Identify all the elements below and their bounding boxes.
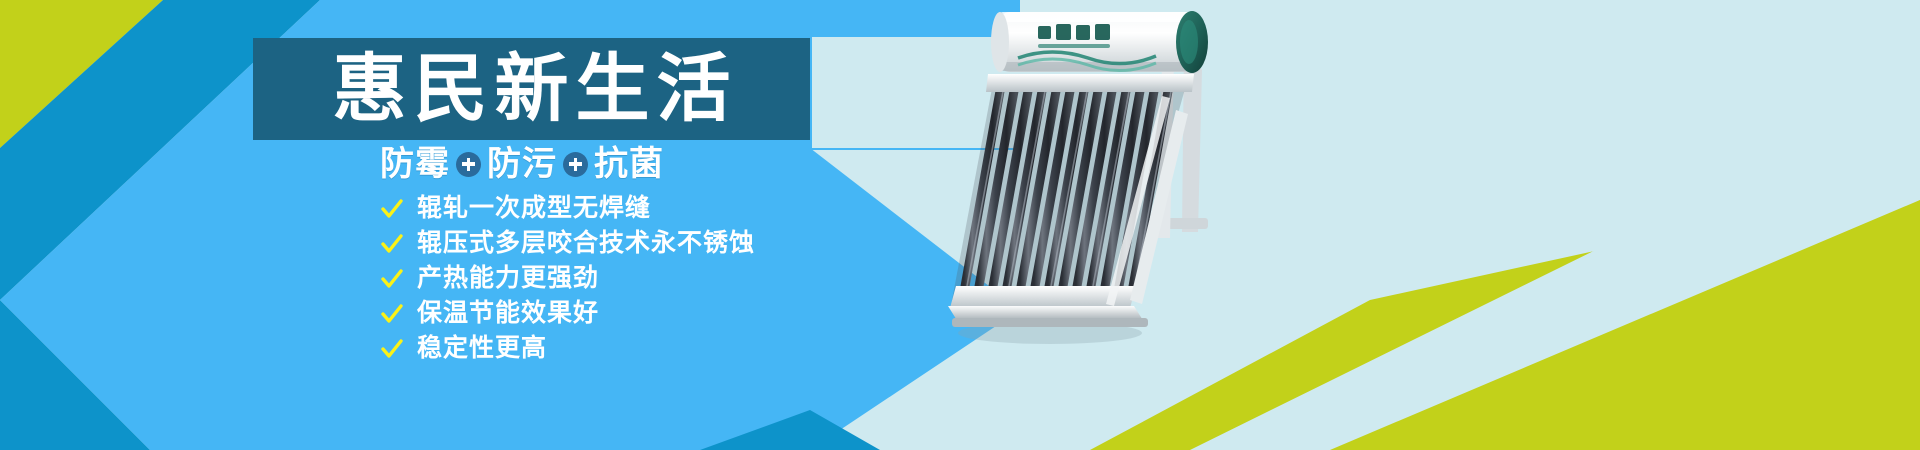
check-icon	[381, 338, 403, 360]
heater-upper-rail	[986, 74, 1194, 92]
list-item: 稳定性更高	[381, 331, 841, 366]
plus-icon	[563, 152, 588, 177]
page-title: 惠民新生活	[326, 52, 738, 126]
title-box: 惠民新生活	[253, 38, 810, 140]
product-image-solar-water-heater	[930, 0, 1270, 360]
check-icon	[381, 268, 403, 290]
list-item: 辊轧一次成型无焊缝	[381, 191, 841, 226]
subtitle-word-1: 防霉	[380, 147, 450, 181]
heater-tank	[991, 11, 1208, 73]
feature-label: 辊压式多层咬合技术永不锈蚀	[417, 231, 755, 256]
feature-label: 产热能力更强劲	[417, 266, 599, 291]
feature-list: 辊轧一次成型无焊缝 辊压式多层咬合技术永不锈蚀 产热能力更强劲 保温节能效果好	[381, 191, 841, 366]
check-icon	[381, 233, 403, 255]
list-item: 产热能力更强劲	[381, 261, 841, 296]
heater-base-bar	[952, 318, 1148, 327]
heater-tube-array	[952, 78, 1188, 300]
subtitle-word-2: 防污	[487, 147, 557, 181]
subtitle-word-3: 抗菌	[594, 147, 664, 181]
feature-label: 辊轧一次成型无焊缝	[417, 196, 651, 221]
check-icon	[381, 303, 403, 325]
feature-label: 保温节能效果好	[417, 301, 599, 326]
promo-banner: 惠民新生活 防霉 防污 抗菌 辊轧一次成型无焊缝 辊压式多层咬合技术永不锈蚀 产…	[0, 0, 1920, 450]
check-icon	[381, 198, 403, 220]
plus-icon	[456, 152, 481, 177]
subtitle-row: 防霉 防污 抗菌	[380, 143, 810, 185]
list-item: 辊压式多层咬合技术永不锈蚀	[381, 226, 841, 261]
list-item: 保温节能效果好	[381, 296, 841, 331]
heater-rear-foot	[1168, 218, 1208, 229]
feature-label: 稳定性更高	[417, 336, 547, 361]
solar-heater-illustration	[930, 0, 1270, 360]
